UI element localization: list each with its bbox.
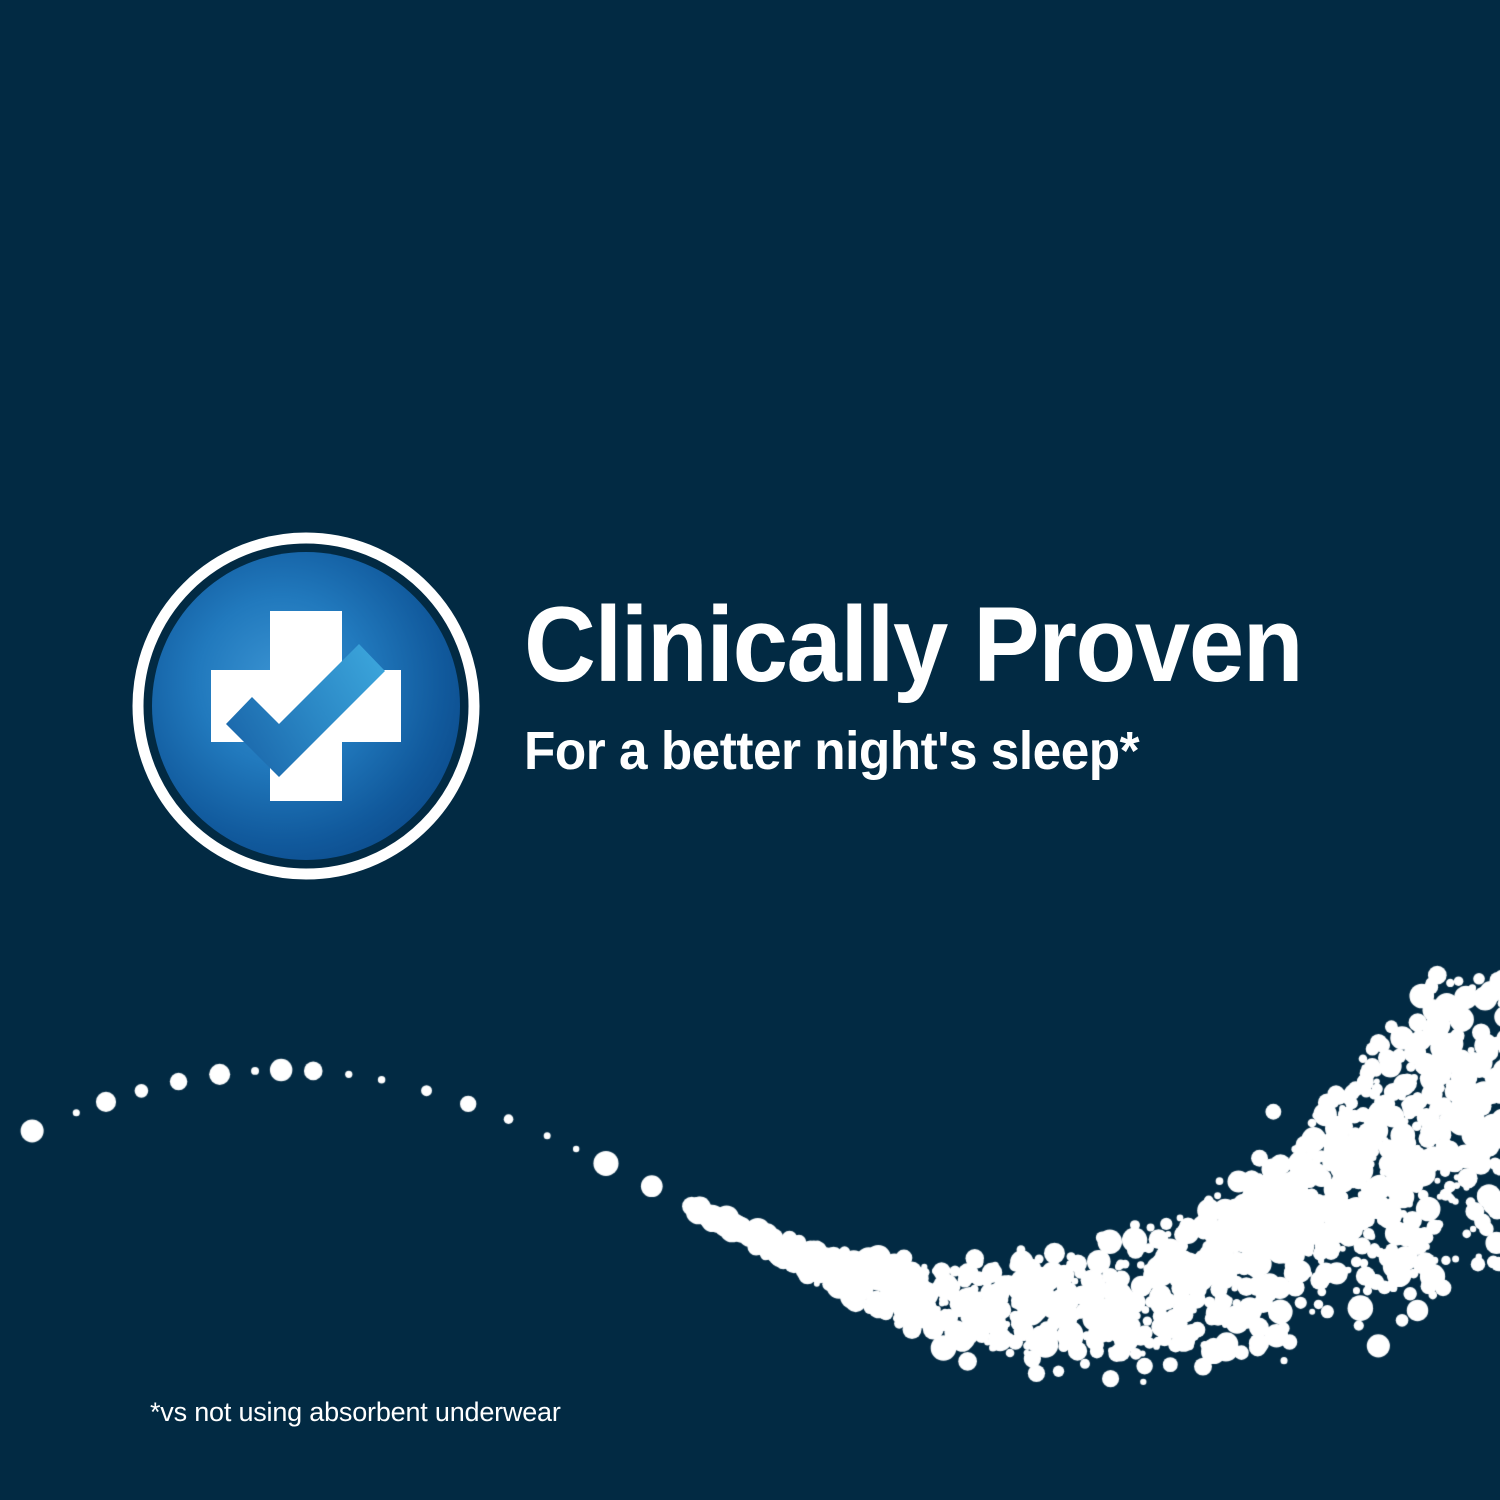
footnote-disclaimer: *vs not using absorbent underwear <box>150 1397 561 1428</box>
clinically-proven-banner: Clinically Proven For a better night's s… <box>0 0 1500 1500</box>
medical-cross-check-badge <box>131 531 481 881</box>
text-block: Clinically Proven For a better night's s… <box>524 592 1444 780</box>
page-subtitle: For a better night's sleep* <box>524 723 1398 780</box>
page-title: Clinically Proven <box>524 592 1380 697</box>
